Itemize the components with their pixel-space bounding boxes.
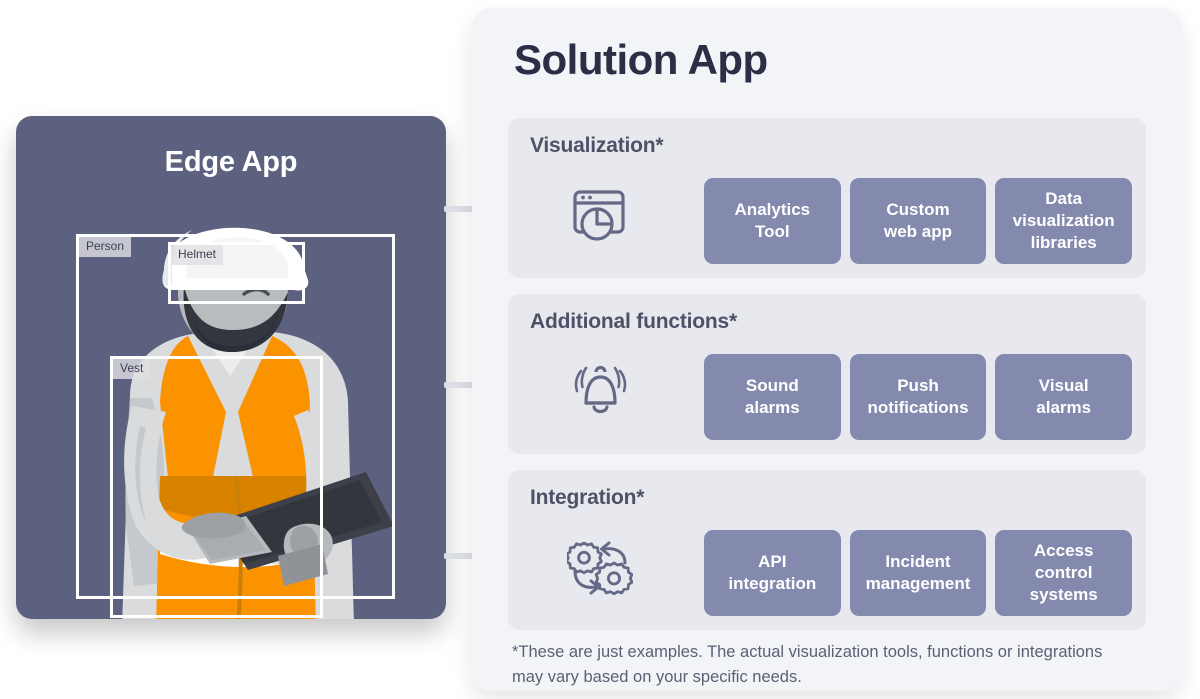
pill-analytics-tool[interactable]: Analytics Tool (704, 178, 841, 264)
detection-box-vest: Vest (110, 356, 323, 618)
detection-label-helmet: Helmet (171, 245, 223, 265)
section-integration: Integration* API integration Incident ma… (508, 470, 1146, 630)
pill-row-visualization: Analytics Tool Custom web app Data visua… (704, 178, 1132, 264)
section-additional-functions: Additional functions* Sound alarms Push … (508, 294, 1146, 454)
section-title-integration: Integration* (530, 486, 644, 510)
pill-row-additional-functions: Sound alarms Push notifications Visual a… (704, 354, 1132, 440)
detection-label-vest: Vest (113, 359, 150, 379)
section-title-visualization: Visualization* (530, 134, 663, 158)
pill-data-visualization-libraries[interactable]: Data visualization libraries (995, 178, 1132, 264)
section-visualization: Visualization* Analytics Tool Custom web… (508, 118, 1146, 278)
gears-sync-icon (560, 528, 640, 608)
worker-illustration: Person Helmet Vest (16, 116, 446, 619)
pill-push-notifications[interactable]: Push notifications (850, 354, 987, 440)
footnote-text: *These are just examples. The actual vis… (512, 640, 1112, 690)
pill-incident-management[interactable]: Incident management (850, 530, 987, 616)
edge-app-panel: Edge App (16, 116, 446, 619)
solution-app-title: Solution App (514, 36, 768, 84)
bell-ringing-icon (560, 352, 640, 432)
pill-api-integration[interactable]: API integration (704, 530, 841, 616)
detection-label-person: Person (79, 237, 131, 257)
browser-pie-chart-icon (560, 176, 640, 256)
pill-custom-web-app[interactable]: Custom web app (850, 178, 987, 264)
pill-row-integration: API integration Incident management Acce… (704, 530, 1132, 616)
pill-sound-alarms[interactable]: Sound alarms (704, 354, 841, 440)
solution-app-card: Solution App Visualization* Analytics To… (472, 8, 1182, 691)
section-title-additional-functions: Additional functions* (530, 310, 737, 334)
pill-visual-alarms[interactable]: Visual alarms (995, 354, 1132, 440)
pill-access-control-systems[interactable]: Access control systems (995, 530, 1132, 616)
detection-box-helmet: Helmet (168, 242, 305, 304)
